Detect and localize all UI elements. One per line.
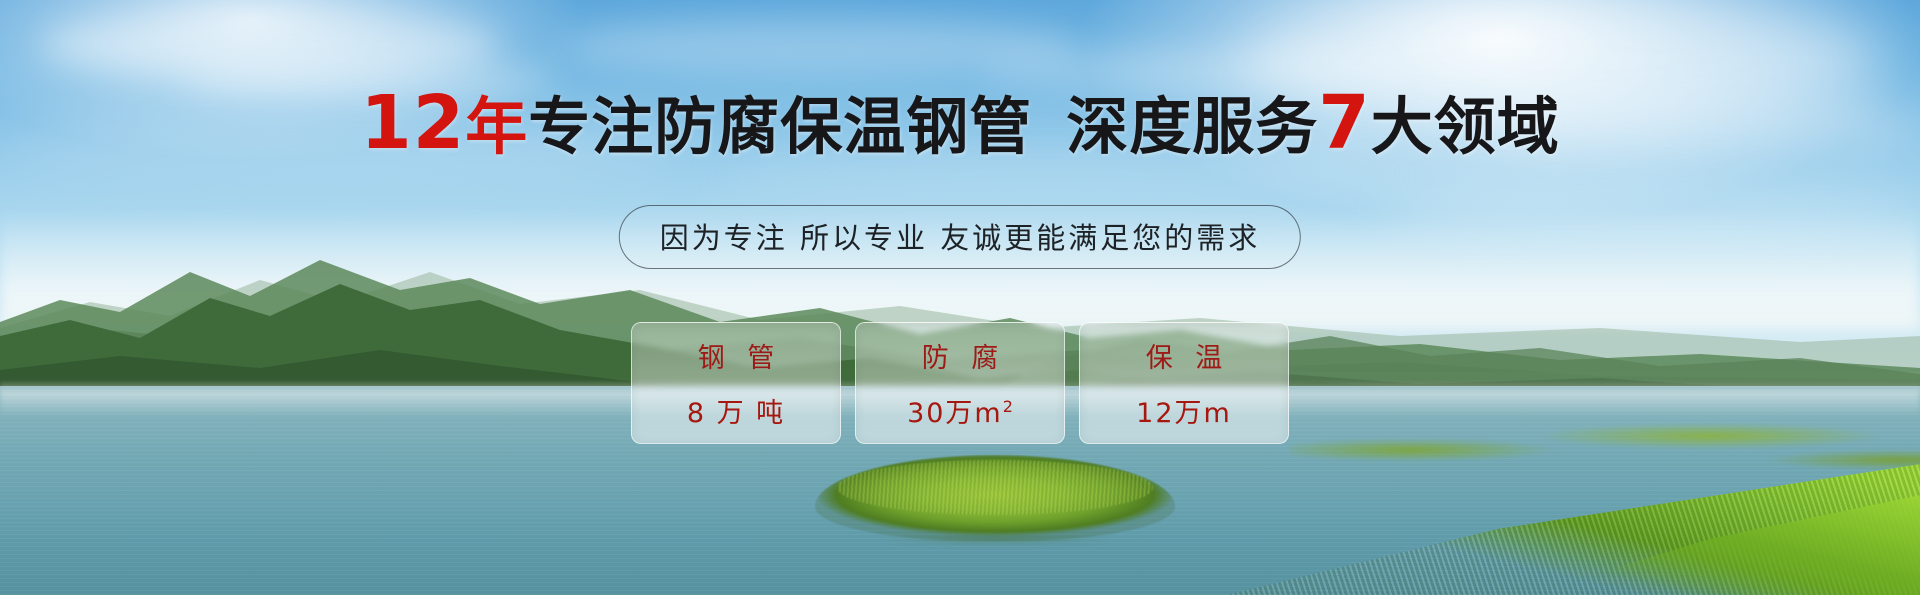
stat-value-text: 30万m: [907, 398, 1003, 429]
headline-years-unit: 年: [465, 90, 528, 163]
stat-card-anticorrosion[interactable]: 防 腐 30万m2: [855, 322, 1065, 444]
stat-label: 钢 管: [691, 336, 782, 375]
stat-value-text: 8 万 吨: [687, 398, 785, 429]
stat-value-exponent: 2: [1003, 397, 1013, 416]
headline-years-number: 12: [360, 80, 465, 166]
stat-card-list: 钢 管 8 万 吨 防 腐 30万m2 保 温 12万m: [631, 322, 1289, 444]
stat-value: 12万m: [1136, 391, 1232, 430]
subtitle-pill: 因为专注 所以专业 友诚更能满足您的需求: [619, 205, 1301, 269]
stat-value-text: 12万m: [1136, 398, 1232, 429]
page-title: 12年专注防腐保温钢管深度服务7大领域: [0, 86, 1920, 160]
headline-service-text: 深度服务: [1066, 90, 1318, 163]
stat-label: 保 温: [1139, 336, 1230, 375]
promo-banner: 12年专注防腐保温钢管深度服务7大领域 因为专注 所以专业 友诚更能满足您的需求…: [0, 0, 1920, 595]
headline-fields-number: 7: [1318, 80, 1371, 166]
headline-fields-text: 大领域: [1371, 90, 1560, 163]
stat-label: 防 腐: [915, 336, 1006, 375]
marsh-vegetation: [1290, 420, 1920, 480]
stat-card-steel-pipe[interactable]: 钢 管 8 万 吨: [631, 322, 841, 444]
headline-main-text: 专注防腐保温钢管: [528, 90, 1032, 163]
stat-value: 30万m2: [907, 391, 1013, 430]
stat-card-insulation[interactable]: 保 温 12万m: [1079, 322, 1289, 444]
stat-value: 8 万 吨: [687, 391, 785, 430]
